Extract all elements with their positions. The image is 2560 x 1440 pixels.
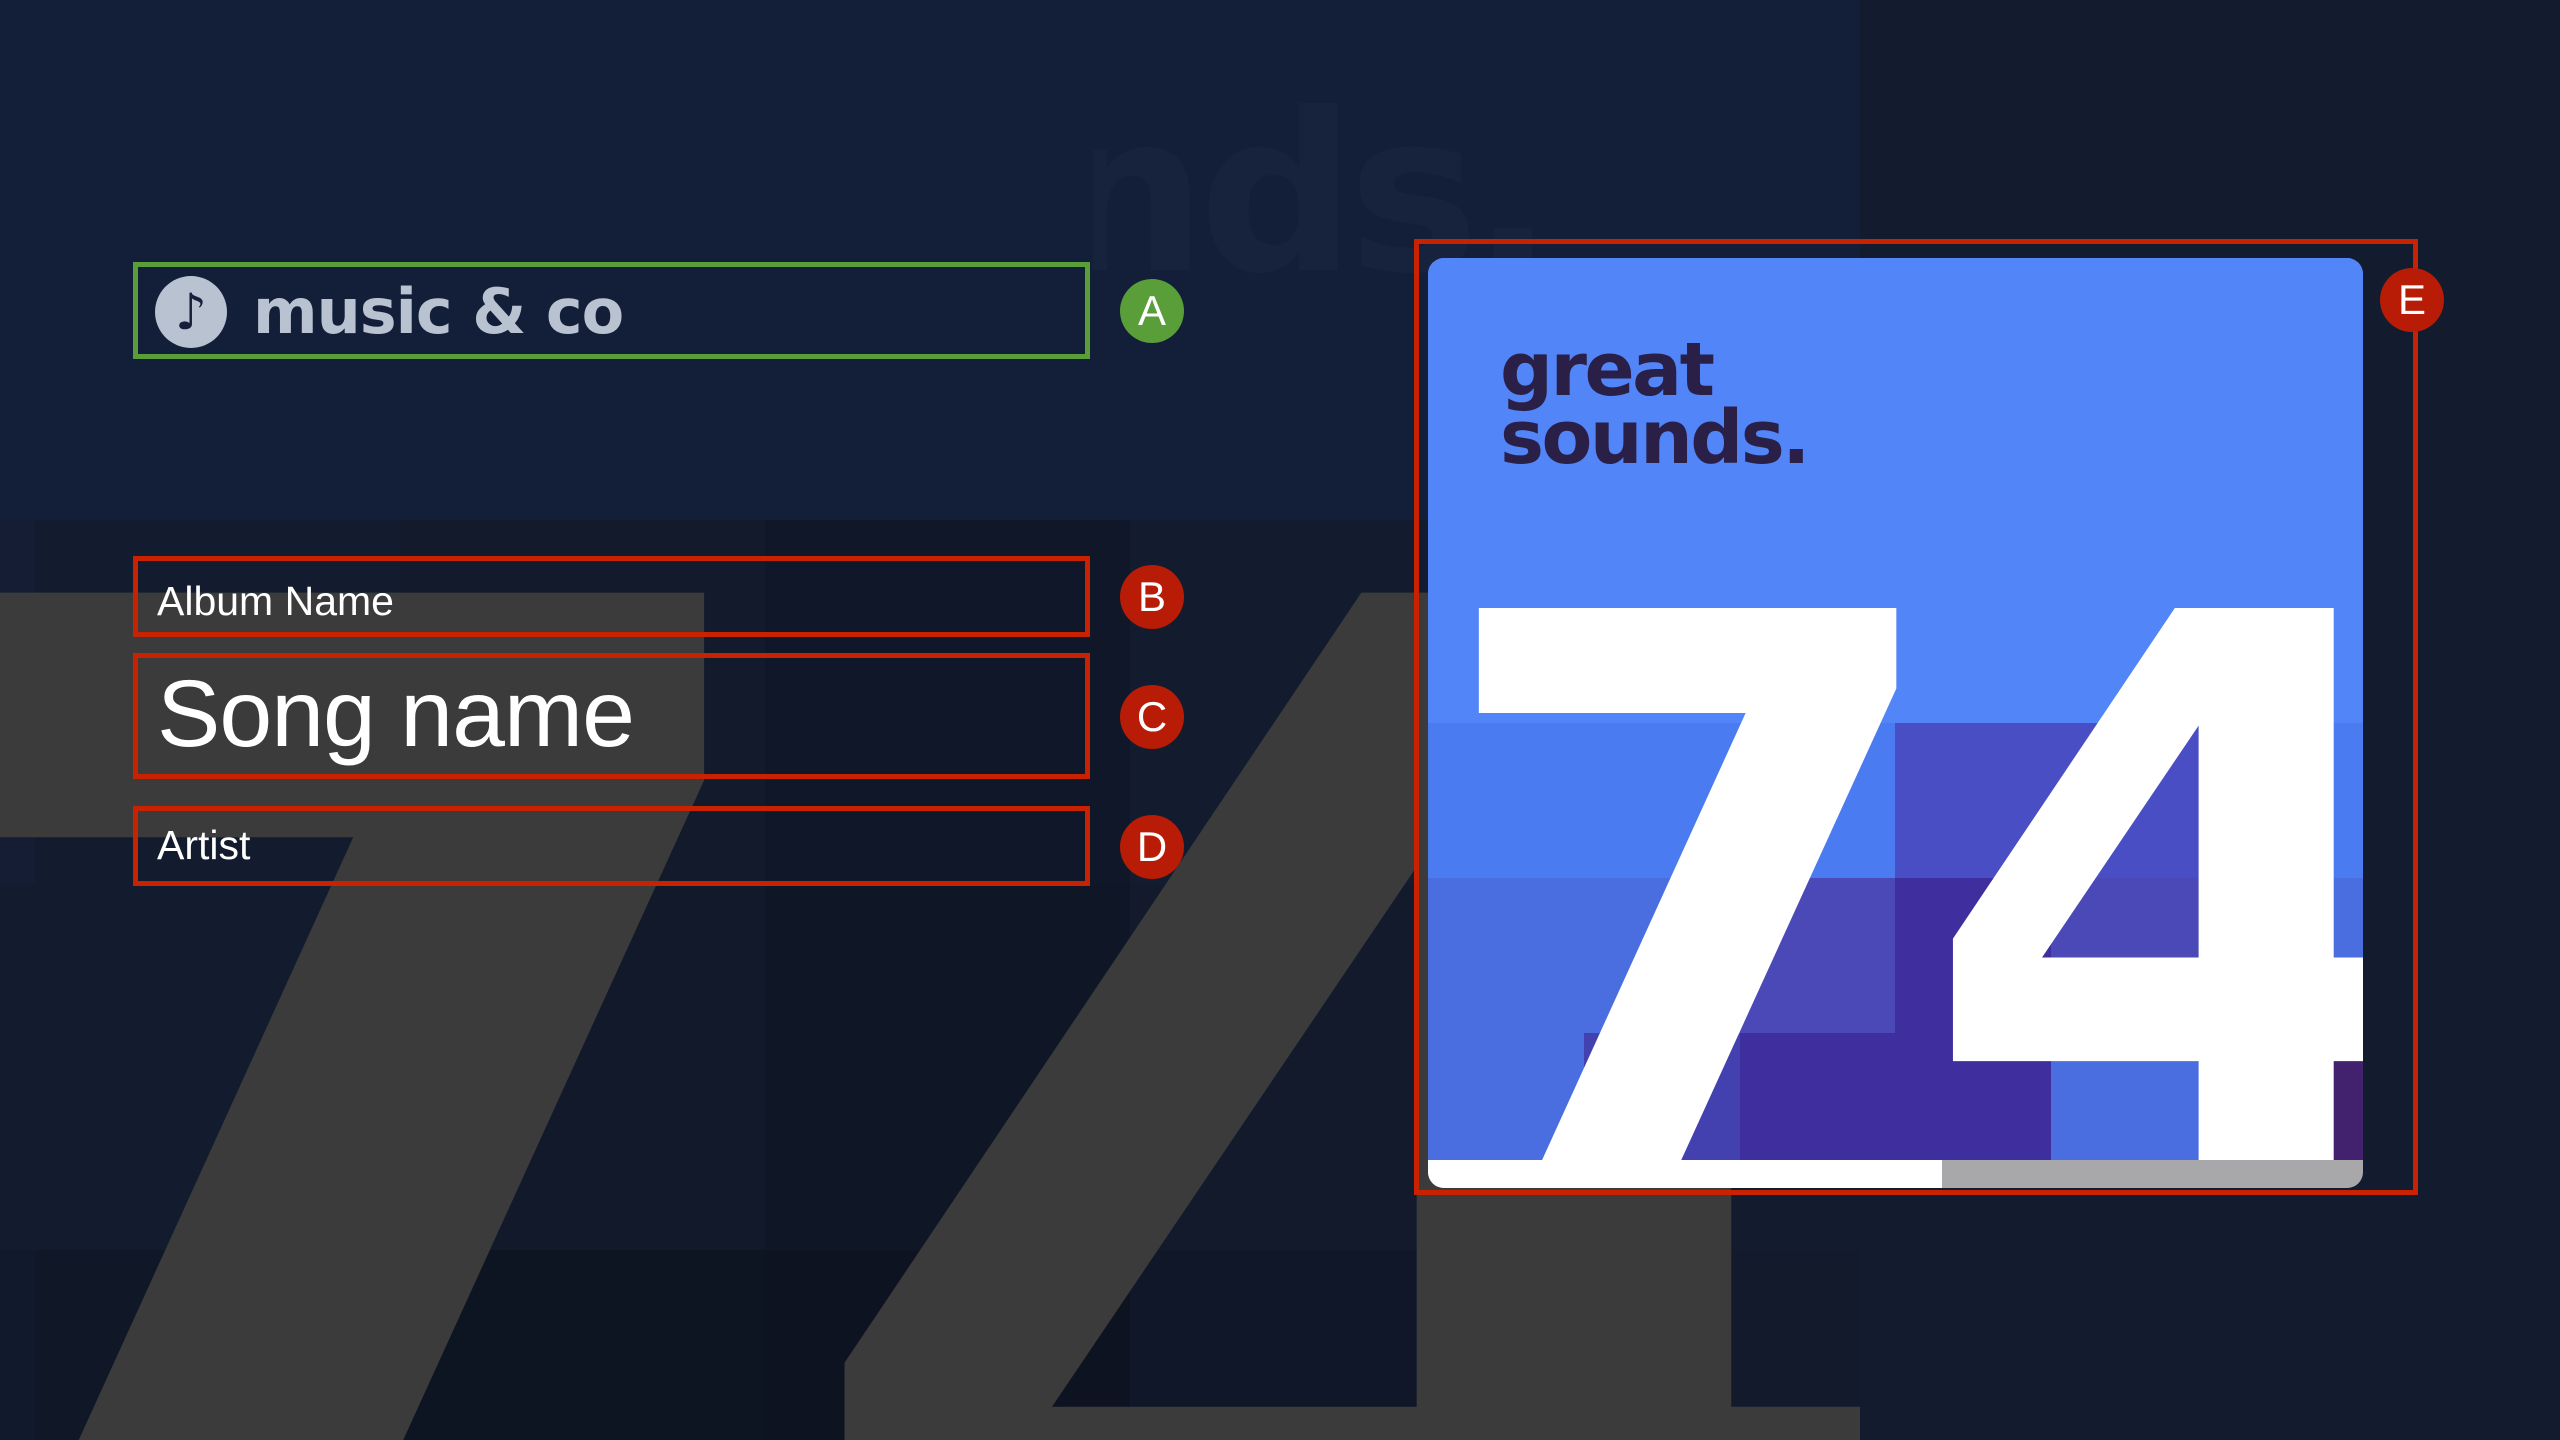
annotation-badge-c: C: [1120, 685, 1184, 749]
annotation-box-d: [133, 806, 1090, 886]
annotation-badge-e: E: [2380, 268, 2444, 332]
annotation-badge-b-letter: B: [1138, 573, 1166, 621]
annotation-box-a: [133, 262, 1090, 359]
annotation-box-b: [133, 556, 1090, 637]
annotation-badge-c-letter: C: [1137, 693, 1167, 741]
annotation-badge-a: A: [1120, 279, 1184, 343]
annotation-badge-d: D: [1120, 815, 1184, 879]
annotation-badge-a-letter: A: [1138, 287, 1166, 335]
annotation-overlay: A B C D E: [0, 0, 2560, 1440]
annotation-box-e: [1414, 239, 2418, 1195]
annotation-box-c: [133, 653, 1090, 779]
annotation-badge-e-letter: E: [2398, 276, 2426, 324]
annotation-badge-b: B: [1120, 565, 1184, 629]
annotation-badge-d-letter: D: [1137, 823, 1167, 871]
